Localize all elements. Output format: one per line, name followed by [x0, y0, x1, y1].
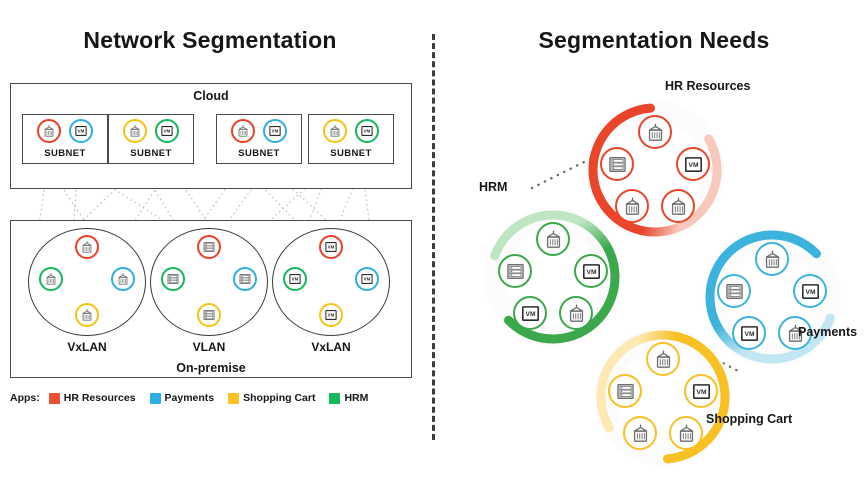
vm-icon: VM [581, 261, 602, 282]
node-server[interactable] [600, 147, 634, 181]
container-icon [44, 272, 58, 286]
node-vm[interactable]: VM [319, 303, 343, 327]
node-vm[interactable]: VM [574, 254, 608, 288]
vm-icon: VM [520, 303, 541, 324]
legend-items: HR ResourcesPaymentsShopping CartHRM [49, 392, 383, 404]
cluster-node-vm-c-right[interactable]: VM [793, 274, 827, 308]
server-rack-icon [724, 281, 745, 302]
onpremise-label: On-premise [10, 361, 412, 375]
vm-icon: VM [268, 124, 282, 138]
network-node-container-top[interactable] [75, 235, 99, 259]
svg-text:VM: VM [744, 330, 754, 337]
node-container[interactable] [646, 342, 680, 376]
subnet-node-container[interactable] [123, 119, 147, 143]
node-container[interactable] [39, 267, 63, 291]
cluster-label-shopping-cart: Shopping Cart [706, 412, 792, 426]
legend-label: HR Resources [64, 392, 136, 404]
svg-text:VM: VM [364, 277, 371, 282]
network-circle-vlan-2[interactable] [150, 228, 268, 336]
svg-text:VM: VM [525, 310, 535, 317]
network-node-container-left[interactable] [39, 267, 63, 291]
network-node-container-bottom[interactable] [75, 303, 99, 327]
svg-text:VM: VM [328, 313, 335, 318]
server-rack-icon [238, 272, 252, 286]
server-rack-icon [166, 272, 180, 286]
svg-text:VM: VM [364, 129, 371, 134]
network-node-vm-bottom[interactable]: VM [319, 303, 343, 327]
container-icon [80, 240, 94, 254]
legend-swatch [49, 393, 60, 404]
node-server[interactable] [233, 267, 257, 291]
node-container[interactable] [75, 235, 99, 259]
svg-text:VM: VM [688, 161, 698, 168]
node-container[interactable] [111, 267, 135, 291]
server-rack-icon [202, 308, 216, 322]
legend-label: HRM [344, 392, 368, 404]
node-vm[interactable]: VM [684, 374, 718, 408]
container-icon [328, 124, 342, 138]
subnet-icons: VM [109, 119, 193, 143]
cluster-node-container-c-br[interactable] [669, 416, 703, 450]
container-icon [543, 229, 564, 250]
subnet-node-container[interactable] [231, 119, 255, 143]
cluster-node-container-c-bl[interactable] [623, 416, 657, 450]
network-node-vm-left[interactable]: VM [283, 267, 307, 291]
network-node-server-left[interactable] [161, 267, 185, 291]
node-vm[interactable]: VM [355, 267, 379, 291]
subnet-node-container[interactable] [323, 119, 347, 143]
node-vm[interactable]: VM [283, 267, 307, 291]
svg-text:VM: VM [696, 388, 706, 395]
subnet-node-container[interactable] [37, 119, 61, 143]
container-icon [566, 303, 587, 324]
subnet-box-1[interactable]: VM SUBNET [22, 114, 108, 164]
vm-icon: VM [160, 124, 174, 138]
vm-icon: VM [800, 281, 821, 302]
subnet-icons: VM [309, 119, 393, 143]
cluster-label-hrm: HRM [479, 180, 507, 194]
cluster-node-server-c-left[interactable] [608, 374, 642, 408]
network-circle-label-2: VLAN [150, 340, 268, 354]
legend-label: Payments [165, 392, 215, 404]
container-icon [645, 122, 666, 143]
svg-text:VM: VM [328, 245, 335, 250]
vm-icon: VM [74, 124, 88, 138]
container-icon [653, 349, 674, 370]
subnet-label: SUBNET [23, 148, 107, 159]
container-icon [236, 124, 250, 138]
subnet-label: SUBNET [109, 148, 193, 159]
subnet-node-vm[interactable]: VM [69, 119, 93, 143]
node-vm[interactable]: VM [793, 274, 827, 308]
network-circle-label-1: VxLAN [28, 340, 146, 354]
diagram-canvas: Network Segmentation Segmentation Needs … [0, 0, 868, 488]
container-icon [80, 308, 94, 322]
container-icon [668, 196, 689, 217]
network-circle-vxlan-3[interactable]: VM VM VM VM [272, 228, 390, 336]
cluster-label-payments: Payments [798, 325, 857, 339]
node-server[interactable] [197, 235, 221, 259]
legend-label: Shopping Cart [243, 392, 315, 404]
svg-text:VM: VM [586, 268, 596, 275]
server-rack-icon [607, 154, 628, 175]
svg-text:VM: VM [78, 129, 85, 134]
page-title-left: Network Segmentation [0, 27, 420, 54]
node-container[interactable] [75, 303, 99, 327]
vm-icon: VM [691, 381, 712, 402]
legend-swatch [329, 393, 340, 404]
subnet-label: SUBNET [217, 148, 301, 159]
node-server[interactable] [717, 274, 751, 308]
node-server[interactable] [197, 303, 221, 327]
svg-text:VM: VM [164, 129, 171, 134]
svg-text:VM: VM [292, 277, 299, 282]
network-node-vm-top[interactable]: VM [319, 235, 343, 259]
cluster-node-vm-c-right[interactable]: VM [676, 147, 710, 181]
cluster-node-vm-c-right[interactable]: VM [684, 374, 718, 408]
vm-icon: VM [360, 124, 374, 138]
cluster-shopping-cart[interactable]: VM [588, 322, 738, 472]
node-server[interactable] [608, 374, 642, 408]
cluster-node-server-c-left[interactable] [498, 254, 532, 288]
network-node-server-right[interactable] [233, 267, 257, 291]
cloud-label: Cloud [10, 89, 412, 103]
node-container[interactable] [638, 115, 672, 149]
legend-title: Apps: [10, 392, 40, 404]
svg-text:VM: VM [805, 288, 815, 295]
legend: Apps: HR ResourcesPaymentsShopping CartH… [10, 388, 412, 408]
node-server[interactable] [161, 267, 185, 291]
legend-item-hr-resources: HR Resources [49, 392, 136, 404]
network-node-server-top[interactable] [197, 235, 221, 259]
subnet-box-3[interactable]: VM SUBNET [216, 114, 302, 164]
panel-divider [432, 34, 435, 440]
subnet-node-vm[interactable]: VM [263, 119, 287, 143]
cluster-node-vm-c-right[interactable]: VM [574, 254, 608, 288]
container-icon [676, 423, 697, 444]
legend-item-payments: Payments [150, 392, 215, 404]
network-node-server-bottom[interactable] [197, 303, 221, 327]
legend-swatch [228, 393, 239, 404]
cluster-node-container-c-top[interactable] [755, 242, 789, 276]
vm-icon: VM [324, 308, 338, 322]
subnet-node-vm[interactable]: VM [355, 119, 379, 143]
vm-icon: VM [683, 154, 704, 175]
legend-item-shopping-cart: Shopping Cart [228, 392, 315, 404]
node-vm[interactable]: VM [513, 296, 547, 330]
cluster-label-hr-resources: HR Resources [665, 79, 750, 93]
container-icon [116, 272, 130, 286]
cluster-node-server-c-left[interactable] [717, 274, 751, 308]
container-icon [762, 249, 783, 270]
page-title-right: Segmentation Needs [440, 27, 868, 54]
node-container[interactable] [755, 242, 789, 276]
container-icon [630, 423, 651, 444]
network-circle-vxlan-1[interactable] [28, 228, 146, 336]
subnet-box-4[interactable]: VM SUBNET [308, 114, 394, 164]
node-container[interactable] [669, 416, 703, 450]
network-node-vm-right[interactable]: VM [355, 267, 379, 291]
vm-icon: VM [739, 323, 760, 344]
subnet-icons: VM [217, 119, 301, 143]
cluster-node-container-c-br[interactable] [661, 189, 695, 223]
container-icon [128, 124, 142, 138]
vm-icon: VM [324, 240, 338, 254]
container-icon [42, 124, 56, 138]
node-container[interactable] [536, 222, 570, 256]
subnet-box-2[interactable]: VM SUBNET [108, 114, 194, 164]
network-circle-label-3: VxLAN [272, 340, 390, 354]
network-node-container-right[interactable] [111, 267, 135, 291]
server-rack-icon [615, 381, 636, 402]
cluster-node-container-c-top[interactable] [646, 342, 680, 376]
node-vm[interactable]: VM [319, 235, 343, 259]
node-server[interactable] [498, 254, 532, 288]
legend-item-hrm: HRM [329, 392, 368, 404]
node-container[interactable] [661, 189, 695, 223]
subnet-label: SUBNET [309, 148, 393, 159]
server-rack-icon [202, 240, 216, 254]
cluster-node-vm-c-bl[interactable]: VM [513, 296, 547, 330]
cluster-node-server-c-left[interactable] [600, 147, 634, 181]
node-vm[interactable]: VM [676, 147, 710, 181]
legend-swatch [150, 393, 161, 404]
node-container[interactable] [623, 416, 657, 450]
vm-icon: VM [360, 272, 374, 286]
vm-icon: VM [288, 272, 302, 286]
cluster-node-container-c-top[interactable] [536, 222, 570, 256]
subnet-node-vm[interactable]: VM [155, 119, 179, 143]
cluster-nodes: VM [588, 322, 738, 472]
svg-text:VM: VM [272, 129, 279, 134]
server-rack-icon [505, 261, 526, 282]
subnet-icons: VM [23, 119, 107, 143]
cluster-node-container-c-top[interactable] [638, 115, 672, 149]
